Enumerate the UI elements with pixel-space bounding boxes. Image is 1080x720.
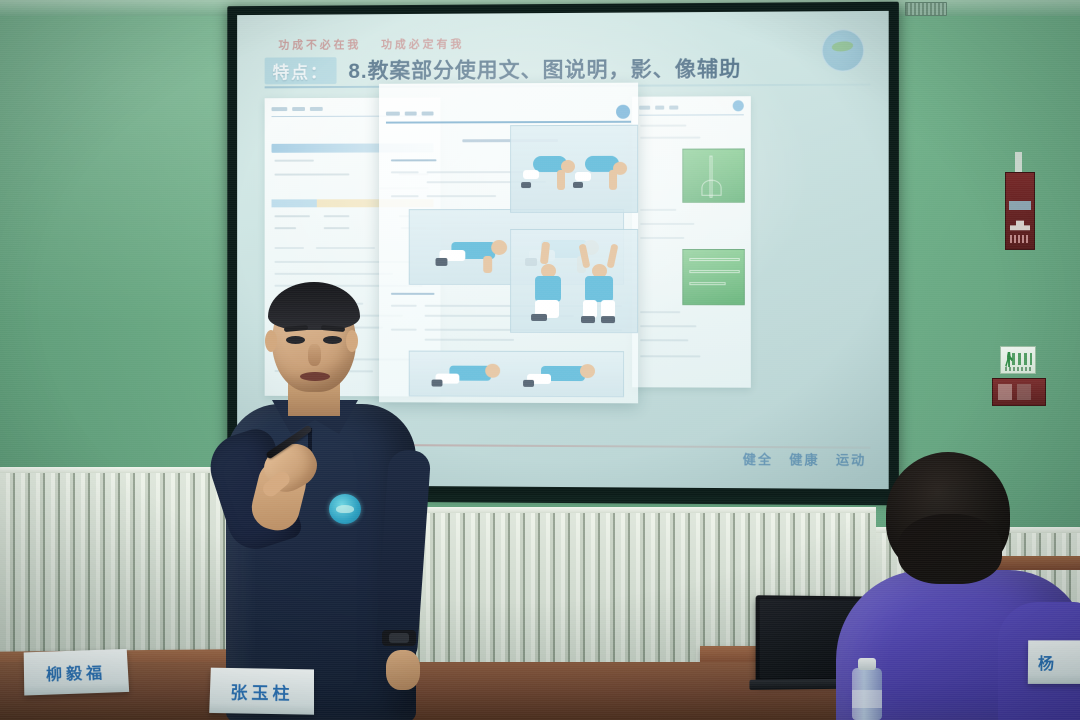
name-plate-center-text: 张玉柱 <box>230 678 293 704</box>
bottle-cap <box>858 658 876 670</box>
ceiling-air-vent <box>905 2 947 16</box>
slide-footer-word-1: 健全 <box>743 449 773 468</box>
slide-tag: 特点： <box>265 57 337 84</box>
name-plate-right-text: 杨 <box>1038 650 1058 674</box>
slide-kicker-left: 功成不必在我 <box>278 39 361 51</box>
page-header-rule <box>639 114 744 115</box>
figure-arms-overhead <box>575 242 627 324</box>
slide-footer: 健全 健康 运动 <box>743 449 867 469</box>
figure-pushup-left <box>436 224 510 276</box>
presenter-eye-left <box>286 336 305 344</box>
presenter-eye-right <box>323 336 342 344</box>
figure-squat-reach <box>525 242 571 324</box>
name-plate-left: 柳毅福 <box>24 649 129 696</box>
slide-title-bar: 特点： 8.教案部分使用文、图说明，影、像辅助 <box>265 53 871 84</box>
alarm-body <box>1005 172 1035 250</box>
presenter-mouth <box>300 372 330 381</box>
slide-title: 8.教案部分使用文、图说明，影、像辅助 <box>348 53 741 85</box>
presenter-right-hand <box>386 650 420 690</box>
page-header-marks <box>386 109 631 117</box>
wristwatch <box>382 630 416 646</box>
exit-sign-text <box>1012 353 1032 365</box>
lecture-room-photo: 功成不必在我 功成必定有我 特点： 8.教案部分使用文、图说明，影、像辅助 <box>0 0 1080 720</box>
alarm-glyph-icon <box>1010 219 1030 235</box>
emergency-exit-sign <box>1000 346 1036 374</box>
exit-sign-subtext <box>1005 367 1031 371</box>
outlet-panel-left <box>998 384 1012 400</box>
slide-footer-word-2: 健康 <box>789 449 819 468</box>
page-header-rule <box>386 121 631 124</box>
right-document-page <box>632 96 751 388</box>
name-plate-left-text: 柳毅福 <box>46 659 107 685</box>
presenter-ear-right <box>346 330 358 352</box>
bottle-label <box>852 690 882 708</box>
slide-kicker: 功成不必在我 功成必定有我 <box>278 35 478 52</box>
presenter-ear-left <box>265 330 277 352</box>
mount-bracket <box>1015 152 1022 174</box>
attendee-hair <box>886 452 1010 576</box>
illustration-bear-crawl-pair <box>510 125 638 213</box>
circular-logo-seal <box>822 29 865 72</box>
name-plate-right: 杨 <box>1028 640 1080 684</box>
green-field-diagram-bottom <box>682 249 744 305</box>
alarm-text <box>1010 235 1030 243</box>
electrical-outlet-box <box>992 378 1046 406</box>
figure-bear-crawl-right <box>575 146 631 200</box>
presenter-raised-arm <box>202 424 304 556</box>
water-bottle <box>852 668 882 720</box>
presenter-speaker <box>196 282 446 720</box>
presenter-nose <box>308 344 321 366</box>
slide-kicker-right: 功成必定有我 <box>381 39 464 51</box>
page-corner-dot <box>616 105 630 119</box>
figure-bear-crawl-left <box>521 146 577 200</box>
presenter-hair <box>268 282 360 330</box>
figure-kneeling-right <box>525 356 601 394</box>
name-plate-center: 张玉柱 <box>209 668 314 715</box>
page-corner-dot <box>733 100 744 111</box>
green-field-diagram-top <box>682 148 744 202</box>
page-header-marks <box>639 103 744 110</box>
fire-alarm-unit <box>1005 152 1033 248</box>
outlet-panel-right <box>1017 384 1031 400</box>
shirt-circular-badge <box>329 494 361 524</box>
alarm-label <box>1009 201 1031 210</box>
illustration-arms-raised-pair <box>510 229 638 333</box>
